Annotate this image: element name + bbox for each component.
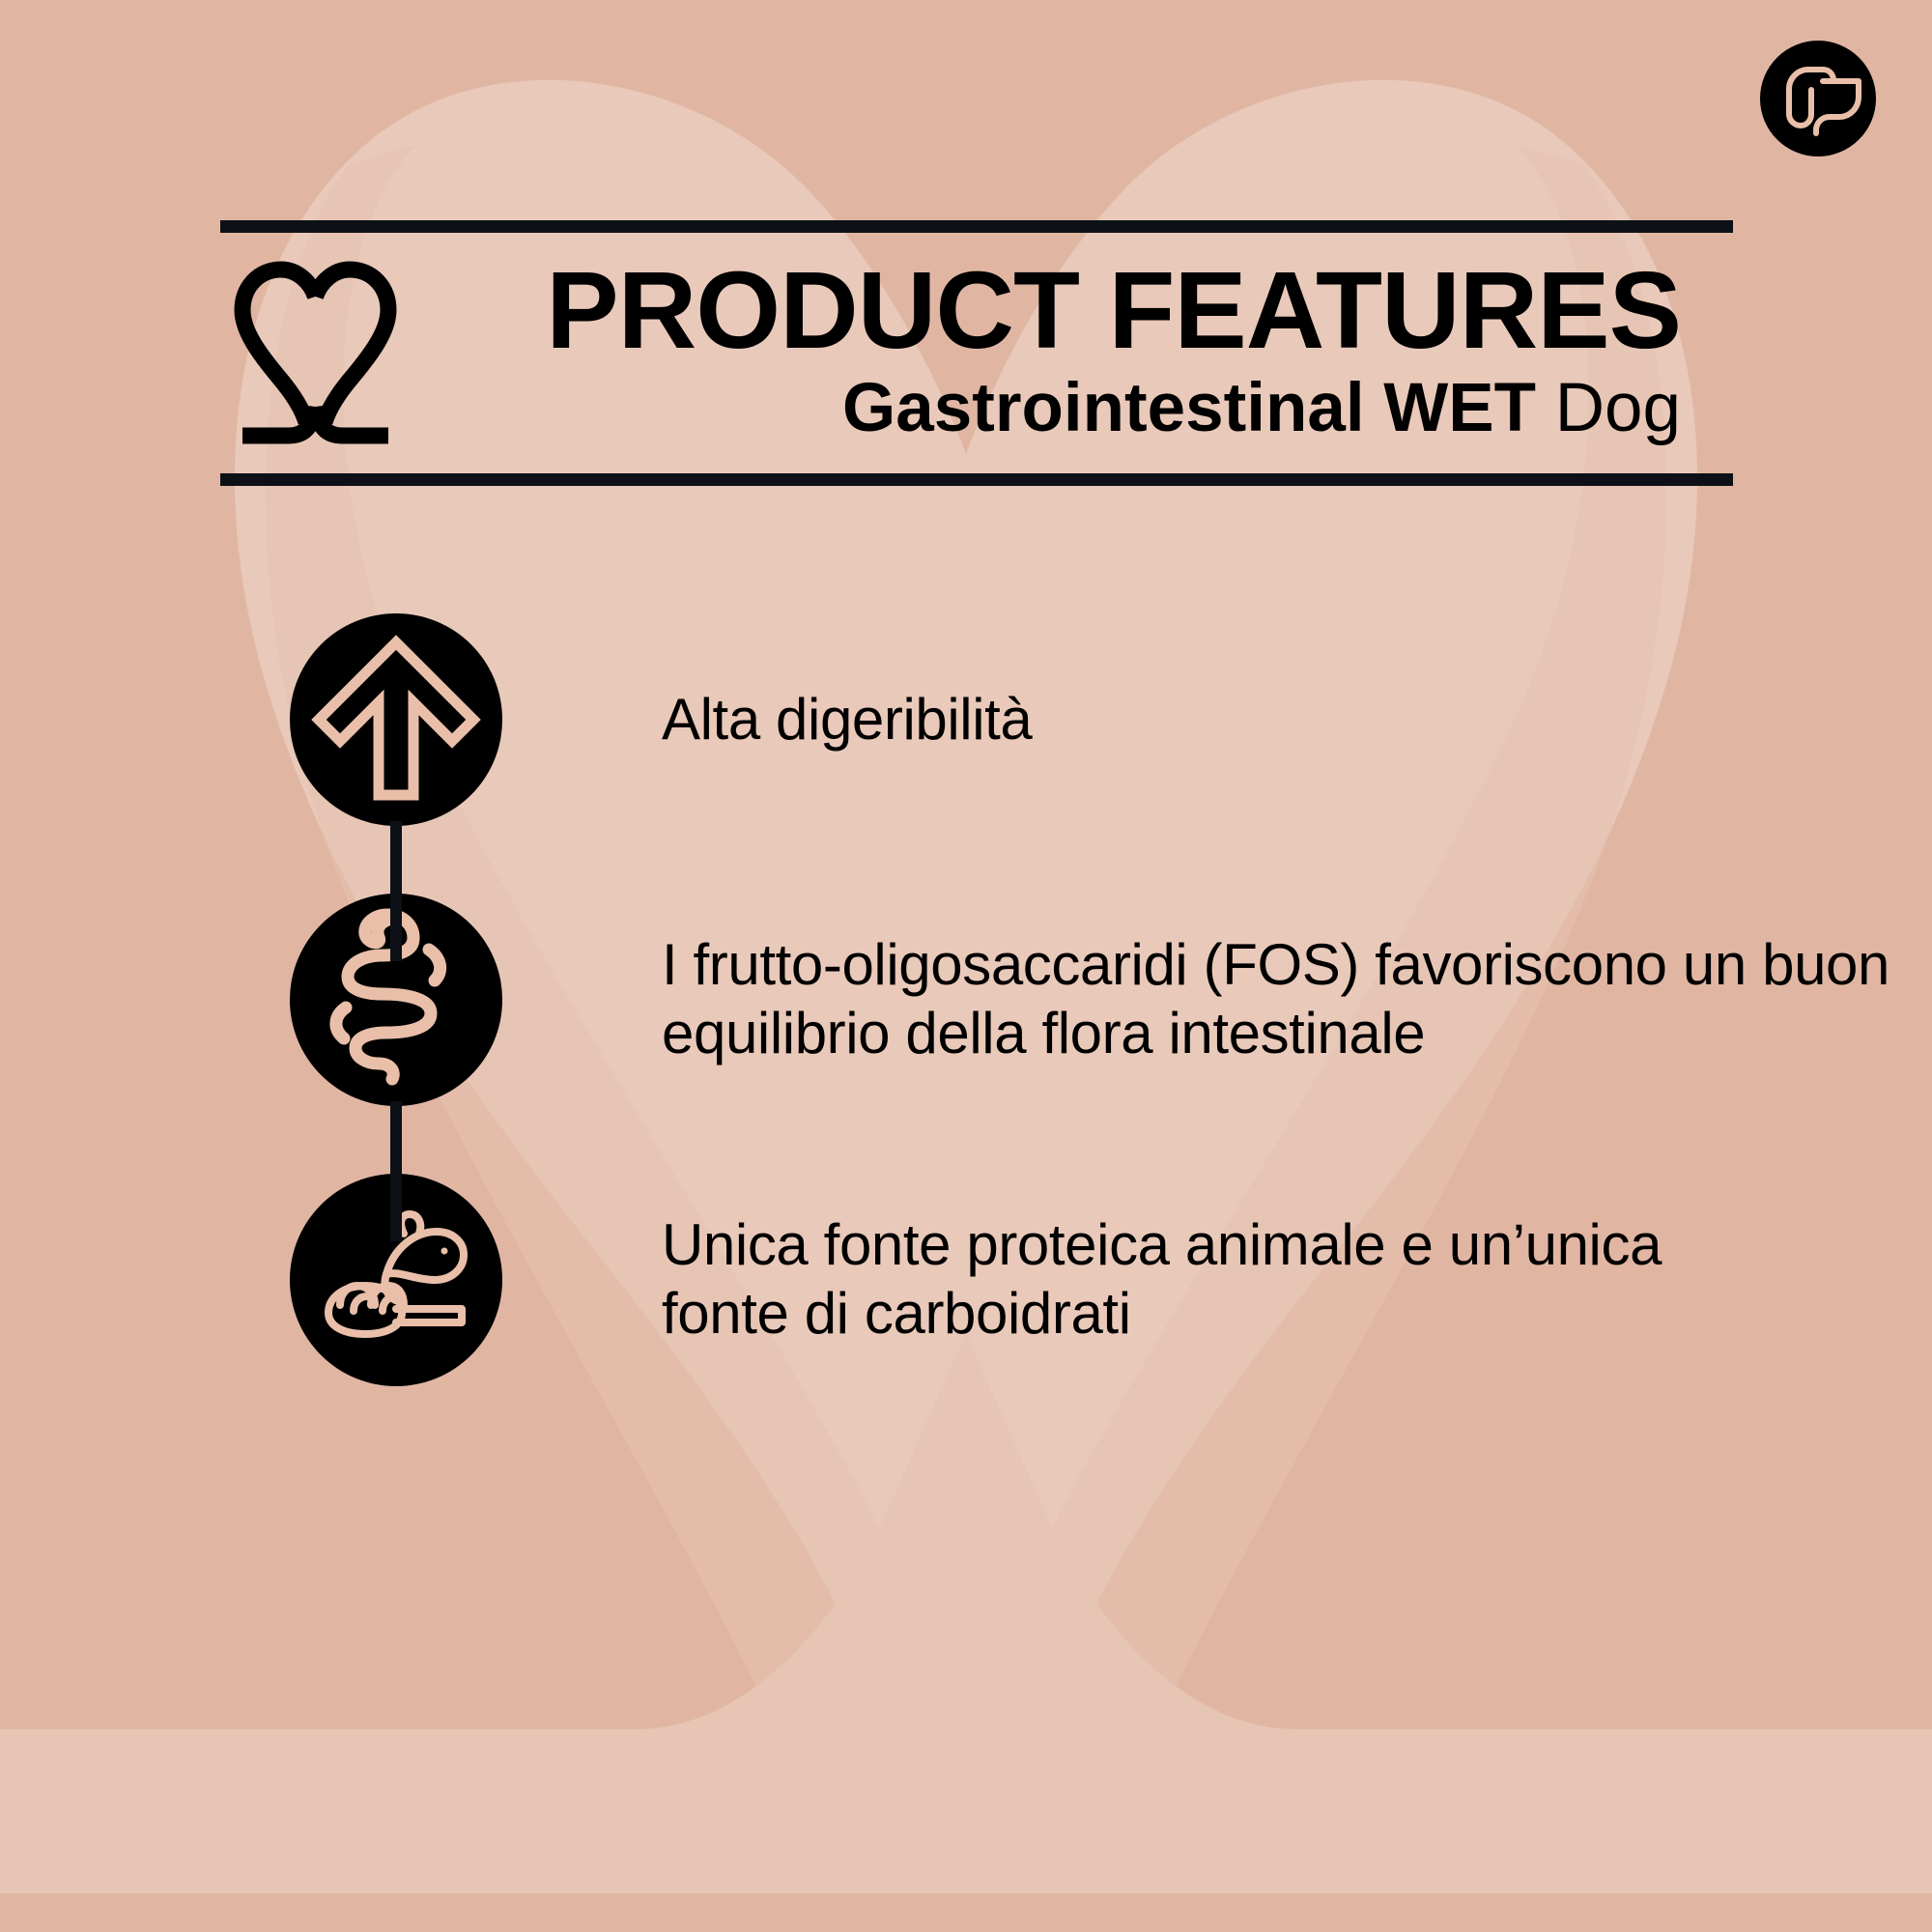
- up-arrow-icon: [290, 613, 502, 826]
- page-title: PRODUCT FEATURES: [410, 255, 1681, 366]
- feature-text-1-line-1: Alta digeribilità: [662, 686, 1893, 754]
- feature-row-2[interactable]: I frutto-oligosaccaridi (FOS) favoriscon…: [290, 889, 1893, 1111]
- feature-row-3[interactable]: Unica fonte proteica animale e un’unica …: [290, 1169, 1893, 1391]
- monge-heart-x-mark: [231, 260, 400, 448]
- dog-head-circle-logo: [1756, 37, 1880, 160]
- feature-text-3: Unica fonte proteica animale e un’unica …: [502, 1211, 1893, 1349]
- feature-text-3-line-2: fonte di carboidrati: [662, 1280, 1893, 1349]
- feature-text-2-line-1: I frutto-oligosaccaridi (FOS) favoriscon…: [662, 931, 1893, 1000]
- feature-text-3-line-1: Unica fonte proteica animale e un’unica: [662, 1211, 1893, 1280]
- page-subtitle-strong: Gastrointestinal WET: [842, 370, 1536, 446]
- header-block: PRODUCT FEATURES Gastrointestinal WET Do…: [220, 220, 1733, 486]
- page-subtitle-light: Dog: [1555, 370, 1681, 446]
- header-mark-slot: [220, 254, 410, 448]
- page-subtitle: Gastrointestinal WET Dog: [410, 370, 1681, 447]
- header-rule-top: [220, 220, 1733, 233]
- header-body: PRODUCT FEATURES Gastrointestinal WET Do…: [220, 233, 1733, 473]
- bottom-edge: [0, 1893, 1932, 1932]
- header-rule-bottom: [220, 473, 1733, 486]
- connector-line-1: [390, 821, 402, 961]
- feature-text-2-line-2: equilibrio della flora intestinale: [662, 1000, 1893, 1068]
- feature-row-1[interactable]: Alta digeribilità: [290, 609, 1893, 831]
- header-titles: PRODUCT FEATURES Gastrointestinal WET Do…: [410, 255, 1733, 447]
- connector-line-2: [390, 1101, 402, 1241]
- bottom-band-light: [0, 1333, 1932, 1893]
- feature-icon-1-wrap: [290, 613, 502, 826]
- feature-text-1: Alta digeribilità: [502, 686, 1893, 754]
- feature-text-2: I frutto-oligosaccaridi (FOS) favoriscon…: [502, 931, 1893, 1068]
